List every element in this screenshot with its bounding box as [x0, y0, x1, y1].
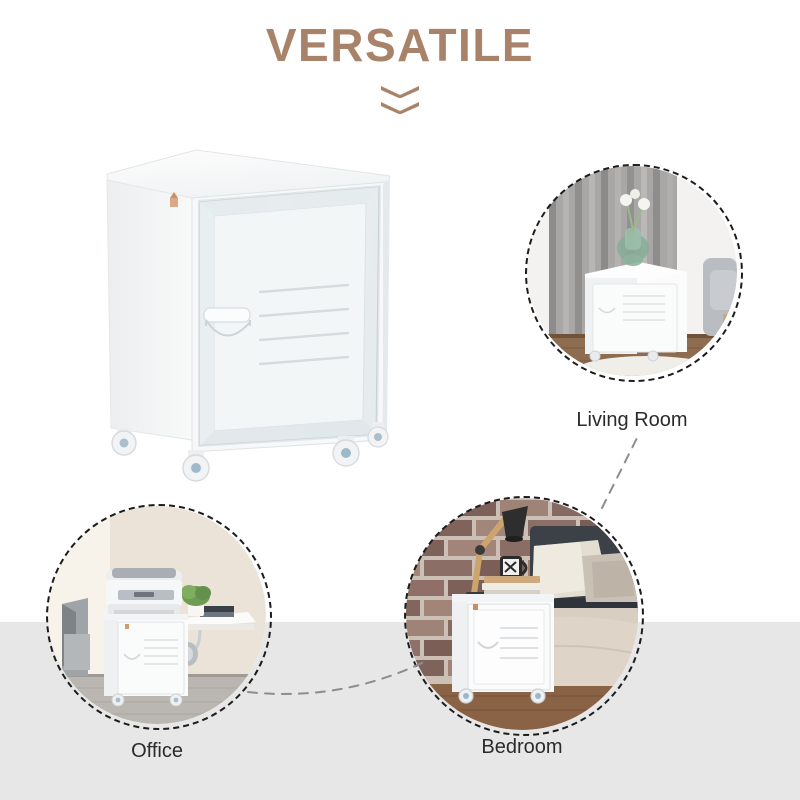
- scene-office: [48, 506, 266, 724]
- scene-living-room: [527, 166, 737, 376]
- scene-label-bedroom: Bedroom: [406, 736, 638, 758]
- armchair: [62, 598, 90, 676]
- printer: [106, 568, 182, 616]
- infographic-canvas: VERSATILE: [0, 0, 800, 800]
- caster-wheel: [112, 428, 136, 455]
- scene-label-office: Office: [48, 740, 266, 762]
- cabinet-in-scene: [452, 594, 554, 703]
- cabinet-in-scene: [104, 614, 188, 706]
- caster-wheel: [183, 450, 209, 481]
- connector-bedroom-to-living: [602, 432, 640, 508]
- scene-label-living-room: Living Room: [527, 409, 737, 431]
- page-title: VERSATILE: [0, 22, 800, 68]
- brand-logo-icon: [473, 604, 478, 610]
- stacked-books: [482, 576, 540, 596]
- double-chevron-down-icon: [0, 84, 800, 114]
- scene-bedroom: [406, 498, 638, 730]
- cabinet-in-scene: [585, 262, 687, 361]
- hero-product-image: [100, 140, 400, 500]
- brand-logo-icon: [125, 624, 129, 629]
